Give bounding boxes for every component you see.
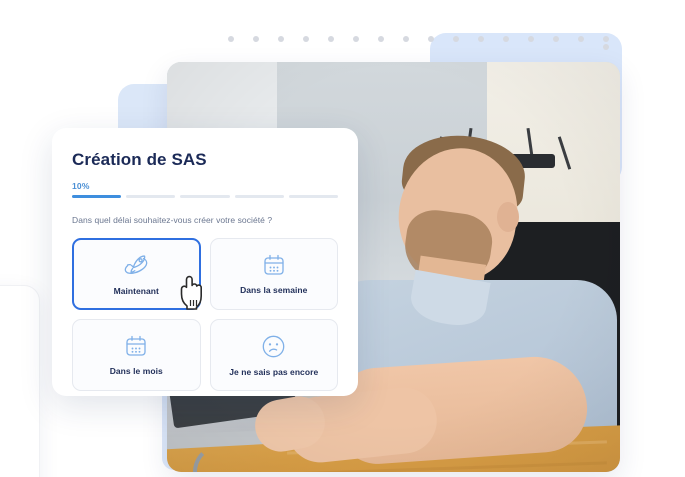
option-card-3[interactable]: Dans le mois: [72, 319, 201, 391]
option-label: Dans la semaine: [240, 285, 307, 295]
option-card-4[interactable]: Je ne sais pas encore: [210, 319, 339, 391]
pointing-hand-cursor: [176, 272, 206, 310]
option-card-2[interactable]: Dans la semaine: [210, 238, 339, 310]
options-grid: MaintenantDans la semaineDans le moisJe …: [72, 238, 338, 391]
progress-segment: [72, 195, 121, 198]
decor-dot: [328, 36, 334, 42]
creation-form-card: Création de SAS 10% Dans quel délai souh…: [52, 128, 358, 396]
decor-dot: [428, 36, 434, 42]
decor-dot: [228, 36, 234, 42]
progress-bar: [72, 195, 338, 198]
page-title: Création de SAS: [72, 150, 338, 170]
decor-dot-row: [228, 36, 618, 44]
option-label: Je ne sais pas encore: [229, 367, 318, 377]
calendar-icon: [261, 252, 287, 278]
decor-dot: [578, 36, 584, 42]
decor-dot: [378, 36, 384, 42]
decor-dot: [253, 36, 259, 42]
progress-segment: [289, 195, 338, 198]
progress-percent-label: 10%: [72, 181, 338, 191]
decor-dot: [603, 44, 609, 50]
decor-dot: [503, 36, 509, 42]
decor-dot: [453, 36, 459, 42]
progress-segment: [126, 195, 175, 198]
option-label: Dans le mois: [110, 366, 163, 376]
decor-dot: [278, 36, 284, 42]
confused-face-icon: [260, 333, 287, 360]
progress-segment: [235, 195, 284, 198]
decor-dot: [353, 36, 359, 42]
decor-dot: [303, 36, 309, 42]
calendar-icon: [123, 333, 149, 359]
decor-dot: [403, 36, 409, 42]
decor-dot: [553, 36, 559, 42]
question-text: Dans quel délai souhaitez-vous créer vot…: [72, 215, 338, 225]
rocket-icon: [122, 251, 150, 279]
progress-segment: [180, 195, 229, 198]
decor-dot: [603, 36, 609, 42]
hero-illustration: Création de SAS 10% Dans quel délai souh…: [0, 0, 685, 477]
decor-dot: [528, 36, 534, 42]
option-label: Maintenant: [114, 286, 159, 296]
decor-ghost-card: [0, 285, 40, 477]
decor-dot: [478, 36, 484, 42]
